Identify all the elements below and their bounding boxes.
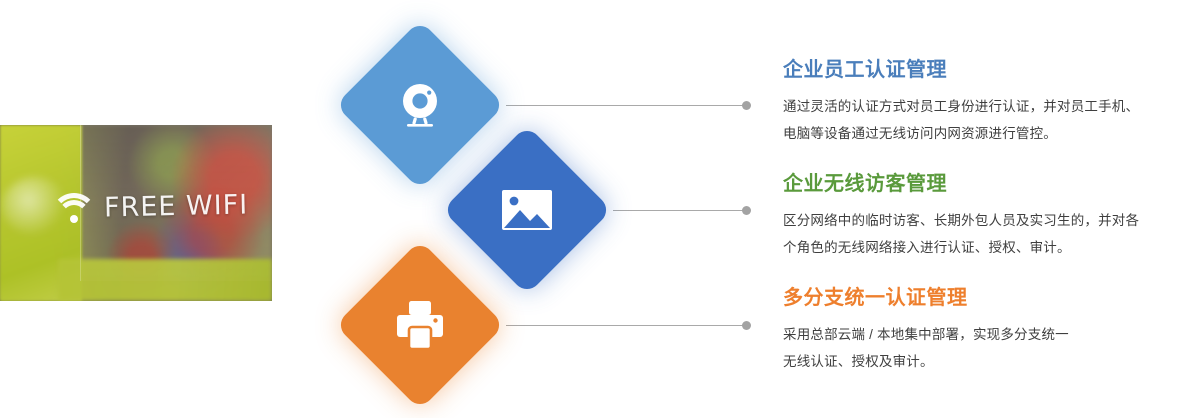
feature-description-3: 采用总部云端 / 本地集中部署，实现多分支统一 无线认证、授权及审计。 — [783, 321, 1195, 375]
feature-text-block-1: 企业员工认证管理 通过灵活的认证方式对员工身份进行认证，并对员工手机、 电脑等设… — [783, 58, 1195, 147]
wifi-signal-icon — [54, 193, 94, 225]
feature-icon-tile-1[interactable] — [335, 20, 505, 190]
feature-heading-3: 多分支统一认证管理 — [783, 286, 1195, 310]
feature-description-1-line-2: 电脑等设备通过无线访问内网资源进行管控。 — [783, 126, 1057, 141]
webcam-icon — [388, 73, 452, 137]
printer-icon — [388, 293, 452, 357]
feature-icon-tile-2[interactable] — [442, 125, 612, 295]
connector-end-dot-3 — [742, 321, 751, 330]
feature-description-2-line-2: 个角色的无线网络接入进行认证、授权、审计。 — [783, 240, 1071, 255]
image-icon — [495, 178, 559, 242]
feature-description-3-line-1: 采用总部云端 / 本地集中部署，实现多分支统一 — [783, 327, 1069, 342]
feature-icon-tile-3[interactable] — [335, 240, 505, 410]
feature-heading-1: 企业员工认证管理 — [783, 58, 1195, 82]
feature-description-3-line-2: 无线认证、授权及审计。 — [783, 354, 934, 369]
wifi-dot — [70, 215, 78, 223]
connector-end-dot-2 — [742, 206, 751, 215]
feature-description-1-line-1: 通过灵活的认证方式对员工身份进行认证，并对员工手机、 — [783, 99, 1139, 114]
connector-line-1 — [506, 105, 746, 106]
feature-heading-2: 企业无线访客管理 — [783, 172, 1195, 196]
feature-text-block-3: 多分支统一认证管理 采用总部云端 / 本地集中部署，实现多分支统一 无线认证、授… — [783, 286, 1195, 375]
connector-end-dot-1 — [742, 101, 751, 110]
feature-description-2-line-1: 区分网络中的临时访客、长期外包人员及实习生的，并对各 — [783, 213, 1139, 228]
photo-overlay-text: FREE WIFI — [104, 189, 249, 223]
feature-description-1: 通过灵活的认证方式对员工身份进行认证，并对员工手机、 电脑等设备通过无线访问内网… — [783, 93, 1195, 147]
feature-text-block-2: 企业无线访客管理 区分网络中的临时访客、长期外包人员及实习生的，并对各 个角色的… — [783, 172, 1195, 261]
free-wifi-photo: FREE WIFI — [0, 125, 272, 301]
connector-line-2 — [613, 210, 746, 211]
connector-line-3 — [506, 325, 746, 326]
feature-description-2: 区分网络中的临时访客、长期外包人员及实习生的，并对各 个角色的无线网络接入进行认… — [783, 207, 1195, 261]
feature-showcase-panel: FREE WIFI — [0, 0, 1200, 418]
